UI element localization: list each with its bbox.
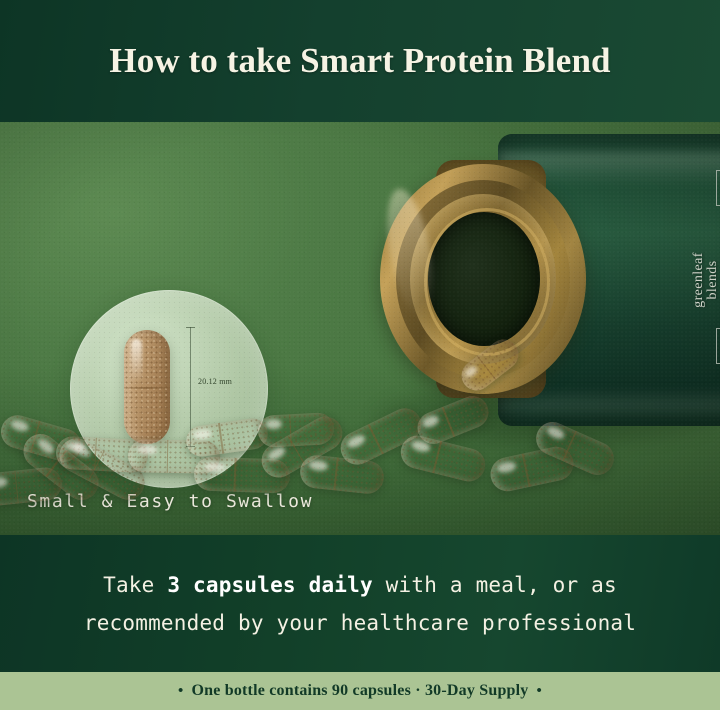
- instruction-emphasis: 3 capsules daily: [167, 573, 373, 597]
- footer-text: One bottle contains 90 capsules · 30-Day…: [191, 682, 528, 699]
- product-instruction-poster: How to take Smart Protein Blend 20.12 mm…: [0, 0, 720, 710]
- header-banner: How to take Smart Protein Blend: [0, 0, 720, 122]
- footer-text-group: •One bottle contains 90 capsules · 30-Da…: [170, 682, 550, 700]
- instruction-prefix: Take: [103, 573, 167, 597]
- footer-bar: •One bottle contains 90 capsules · 30-Da…: [0, 672, 720, 710]
- instruction-text: Take 3 capsules daily with a meal, or as…: [30, 566, 690, 642]
- footer-bullet-right: •: [529, 683, 550, 699]
- page-title: How to take Smart Protein Blend: [109, 41, 610, 81]
- product-photo: 20.12 mm Small & Easy to Swallow greenle…: [0, 122, 720, 535]
- instruction-band: Take 3 capsules daily with a meal, or as…: [0, 535, 720, 672]
- photo-grain: [0, 122, 720, 535]
- footer-bullet-left: •: [170, 683, 191, 699]
